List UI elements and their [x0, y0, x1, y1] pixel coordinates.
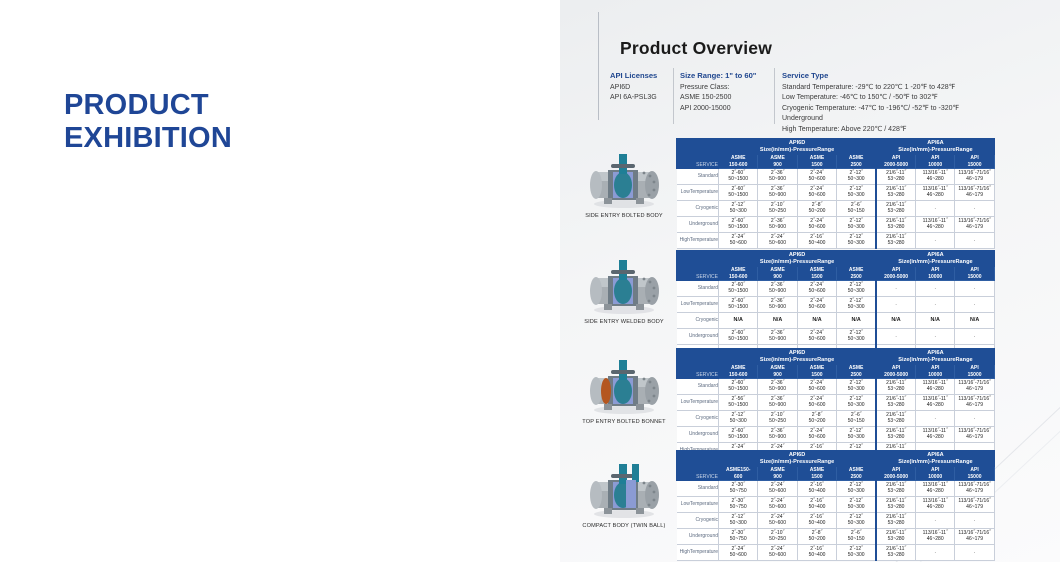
cell-size-pressure: 2˝-24˝50~600: [797, 281, 836, 297]
cell-size-pressure: 2˝-60˝50~1500: [719, 217, 758, 233]
cell-na: N/A: [916, 313, 955, 329]
spec-service-type: Service Type Standard Temperature: -29℃ …: [782, 70, 1032, 136]
spec-line: Pressure Class:: [680, 83, 772, 94]
service-column-header: SERVICE: [677, 349, 719, 379]
spec-heading: Size Range: 1" to 60": [680, 70, 772, 82]
cell-na: N/A: [955, 313, 994, 329]
cell-size-pressure: 2˝-8˝50~200: [797, 411, 836, 427]
table-row: Standard2˝-30˝50~7502˝-24˝50~6002˝-16˝50…: [677, 481, 995, 497]
cell-size-pressure: 2˝-8˝50~200: [797, 201, 836, 217]
slide-root: PRODUCT EXHIBITION Product Overview API …: [0, 0, 1060, 562]
cell-empty: ·: [916, 411, 955, 427]
product-figure: TOP ENTRY BOLTED BONNET: [570, 358, 678, 425]
col-header-asme: ASME900: [758, 467, 797, 481]
valve-cutaway-image: [582, 152, 666, 210]
group-header-api6a: API6ASize(in/mm)-PressureRange: [876, 451, 994, 467]
table-row: LowTemperature2˝-56˝50~15002˝-36˝50~9002…: [677, 395, 995, 411]
cell-size-pressure: 2˝-24˝50~600: [719, 545, 758, 561]
table-row: LowTemperature2˝-60˝50~15002˝-36˝50~9002…: [677, 297, 995, 313]
cell-size-pressure: 2˝-12˝50~300: [837, 513, 876, 529]
cell-size-pressure: 2˝-12˝50~300: [837, 233, 876, 249]
cell-size-pressure: 2˝-30˝50~750: [719, 481, 758, 497]
row-label: Cryogenic: [677, 513, 719, 529]
cell-size-pressure: 113/16˝-71/16˝46~179: [955, 481, 994, 497]
cell-size-pressure: 2˝-12˝50~300: [719, 513, 758, 529]
group-header-api6d: API6DSize(in/mm)-PressureRange: [719, 451, 877, 467]
col-header-asme: ASME2500: [837, 267, 876, 281]
cell-size-pressure: 2˝-24˝50~600: [797, 169, 836, 185]
white-diagonal-divider: [0, 0, 560, 562]
col-header-api: API10000: [916, 467, 955, 481]
col-header-api: API2000-5000: [876, 155, 915, 169]
cell-size-pressure: 2˝-10˝50~250: [758, 201, 797, 217]
cell-empty: ·: [955, 411, 994, 427]
cell-size-pressure: 2˝-30˝50~750: [719, 529, 758, 545]
table-row: CryogenicN/AN/AN/AN/AN/AN/AN/A: [677, 313, 995, 329]
service-column-header: SERVICE: [677, 139, 719, 169]
cell-size-pressure: 2˝-36˝50~900: [758, 217, 797, 233]
header-divider: [598, 12, 599, 120]
cell-size-pressure: 2˝-12˝50~300: [837, 329, 876, 345]
table-row: Cryogenic2˝-12˝50~3002˝-10˝50~2502˝-8˝50…: [677, 411, 995, 427]
cell-size-pressure: 2˝-36˝50~900: [758, 379, 797, 395]
cell-size-pressure: 2˝-60˝50~1500: [719, 297, 758, 313]
col-header-asme: ASME900: [758, 267, 797, 281]
cell-size-pressure: 113/16˝-11˝46~280: [916, 169, 955, 185]
cell-size-pressure: 2˝-6˝50~150: [837, 529, 876, 545]
spec-line: API6D: [610, 83, 678, 94]
cell-empty: ·: [876, 297, 915, 313]
row-label: LowTemperature: [677, 395, 719, 411]
col-header-asme: ASME2500: [837, 365, 876, 379]
table-row: HighTemperature2˝-24˝50~6002˝-24˝50~6002…: [677, 545, 995, 561]
cell-size-pressure: 113/16˝-11˝46~280: [916, 529, 955, 545]
row-label: HighTemperature: [677, 233, 719, 249]
cell-size-pressure: 113/16˝-71/16˝46~179: [955, 217, 994, 233]
cell-na: N/A: [837, 313, 876, 329]
cell-size-pressure: 113/16˝-11˝46~280: [916, 427, 955, 443]
cell-size-pressure: 2˝-12˝50~300: [837, 481, 876, 497]
cell-size-pressure: 2˝-12˝50~300: [837, 379, 876, 395]
cell-size-pressure: 2˝-12˝50~300: [837, 297, 876, 313]
cell-size-pressure: 2˝-8˝50~200: [797, 529, 836, 545]
cell-size-pressure: 113/16˝-11˝46~280: [916, 185, 955, 201]
col-header-api: API15000: [955, 155, 994, 169]
cell-size-pressure: 113/16˝-11˝46~280: [916, 379, 955, 395]
cell-size-pressure: 21/6˝-11˝53~280: [876, 545, 915, 561]
table-row: Cryogenic2˝-12˝50~3002˝-24˝50~6002˝-16˝5…: [677, 513, 995, 529]
cell-size-pressure: 21/6˝-11˝53~280: [876, 411, 915, 427]
row-label: LowTemperature: [677, 297, 719, 313]
cell-size-pressure: 2˝-24˝50~600: [719, 233, 758, 249]
cell-size-pressure: 2˝-12˝50~300: [837, 545, 876, 561]
cell-size-pressure: 2˝-36˝50~900: [758, 329, 797, 345]
table-row: LowTemperature2˝-60˝50~15002˝-36˝50~9002…: [677, 185, 995, 201]
col-header-asme: ASME1500: [797, 155, 836, 169]
col-header-asme: ASME900: [758, 365, 797, 379]
spec-line: API 2000-15000: [680, 104, 772, 115]
col-header-api: API2000-5000: [876, 467, 915, 481]
spec-line: Low Temperature: -46℃ to 150℃ / -50℉ to …: [782, 93, 1032, 104]
col-header-api: API10000: [916, 267, 955, 281]
spec-api-licenses: API Licenses API6D API 6A-PSL3G: [610, 70, 678, 104]
row-label: HighTemperature: [677, 545, 719, 561]
col-header-api: API10000: [916, 155, 955, 169]
cell-size-pressure: 2˝-6˝50~150: [837, 411, 876, 427]
cell-size-pressure: 21/6˝-11˝53~280: [876, 217, 915, 233]
cell-size-pressure: 2˝-24˝50~600: [758, 497, 797, 513]
row-label: Underground: [677, 329, 719, 345]
cell-size-pressure: 21/6˝-11˝53~280: [876, 513, 915, 529]
cell-size-pressure: 2˝-24˝50~600: [758, 545, 797, 561]
product-figure: COMPACT BODY (TWIN BALL): [570, 462, 678, 529]
cell-size-pressure: 2˝-16˝50~400: [797, 233, 836, 249]
valve-cutaway-image: [582, 258, 666, 316]
table-row: Standard2˝-60˝50~15002˝-36˝50~9002˝-24˝5…: [677, 281, 995, 297]
cell-size-pressure: 113/16˝-71/16˝46~179: [955, 529, 994, 545]
cell-size-pressure: 113/16˝-71/16˝46~179: [955, 379, 994, 395]
spec-table: SERVICEAPI6DSize(in/mm)-PressureRangeAPI…: [676, 250, 995, 361]
cell-size-pressure: 113/16˝-71/16˝46~179: [955, 427, 994, 443]
row-label: Standard: [677, 379, 719, 395]
cell-size-pressure: 21/6˝-11˝53~280: [876, 481, 915, 497]
cell-size-pressure: 113/16˝-71/16˝46~179: [955, 169, 994, 185]
row-label: Underground: [677, 529, 719, 545]
cell-size-pressure: 113/16˝-11˝46~280: [916, 217, 955, 233]
cell-size-pressure: 2˝-56˝50~1500: [719, 395, 758, 411]
cell-empty: ·: [955, 513, 994, 529]
group-header-api6a: API6ASize(in/mm)-PressureRange: [876, 251, 994, 267]
cell-size-pressure: 2˝-60˝50~1500: [719, 379, 758, 395]
col-header-api: API10000: [916, 365, 955, 379]
cell-empty: ·: [955, 297, 994, 313]
photo-collage-panel: PRODUCT EXHIBITION: [0, 0, 560, 562]
cell-na: N/A: [758, 313, 797, 329]
cell-empty: ·: [916, 513, 955, 529]
page-title-line-2: EXHIBITION: [64, 122, 232, 155]
cell-size-pressure: 2˝-24˝50~600: [758, 513, 797, 529]
cell-size-pressure: 113/16˝-71/16˝46~179: [955, 497, 994, 513]
spec-line: ASME 150-2500: [680, 93, 772, 104]
cell-size-pressure: 21/6˝-11˝53~280: [876, 185, 915, 201]
cell-size-pressure: 2˝-24˝50~600: [797, 297, 836, 313]
valve-cutaway-image: [582, 462, 666, 520]
cell-empty: ·: [916, 545, 955, 561]
group-header-api6d: API6DSize(in/mm)-PressureRange: [719, 349, 877, 365]
spec-heading: API Licenses: [610, 70, 678, 82]
cell-size-pressure: 2˝-36˝50~900: [758, 427, 797, 443]
cell-size-pressure: 2˝-12˝50~300: [837, 185, 876, 201]
cell-size-pressure: 2˝-12˝50~300: [837, 427, 876, 443]
cell-size-pressure: 113/16˝-11˝46~280: [916, 481, 955, 497]
spec-table: SERVICEAPI6DSize(in/mm)-PressureRangeAPI…: [676, 138, 995, 249]
product-overview-panel: Product Overview API Licenses API6D API …: [560, 0, 1060, 562]
cell-empty: ·: [916, 233, 955, 249]
spec-line: API 6A-PSL3G: [610, 93, 678, 104]
cell-size-pressure: 21/6˝-11˝53~280: [876, 169, 915, 185]
col-header-asme: ASME1500: [797, 467, 836, 481]
product-figure: SIDE ENTRY BOLTED BODY: [570, 152, 678, 219]
cell-empty: ·: [916, 281, 955, 297]
cell-empty: ·: [955, 281, 994, 297]
cell-size-pressure: 2˝-16˝50~400: [797, 497, 836, 513]
spec-table: SERVICEAPI6DSize(in/mm)-PressureRangeAPI…: [676, 348, 995, 459]
page-title: PRODUCT EXHIBITION: [64, 89, 232, 155]
cell-empty: ·: [876, 281, 915, 297]
cell-size-pressure: 2˝-16˝50~400: [797, 513, 836, 529]
spec-divider-2: [774, 68, 775, 124]
cell-size-pressure: 2˝-36˝50~900: [758, 281, 797, 297]
cell-empty: ·: [955, 545, 994, 561]
cell-size-pressure: 2˝-24˝50~600: [758, 481, 797, 497]
cell-size-pressure: 2˝-30˝50~750: [719, 497, 758, 513]
cell-size-pressure: 2˝-16˝50~400: [797, 545, 836, 561]
row-label: Standard: [677, 169, 719, 185]
row-label: Cryogenic: [677, 201, 719, 217]
cell-size-pressure: 113/16˝-71/16˝46~179: [955, 395, 994, 411]
service-column-header: SERVICE: [677, 251, 719, 281]
table-row: Underground2˝-60˝50~15002˝-36˝50~9002˝-2…: [677, 217, 995, 233]
cell-size-pressure: 2˝-60˝50~1500: [719, 427, 758, 443]
col-header-asme: ASME1500: [797, 365, 836, 379]
col-header-asme: ASME2500: [837, 155, 876, 169]
cell-size-pressure: 113/16˝-11˝46~280: [916, 497, 955, 513]
product-figure: SIDE ENTRY WELDED BODY: [570, 258, 678, 325]
group-header-api6d: API6DSize(in/mm)-PressureRange: [719, 139, 877, 155]
row-label: Cryogenic: [677, 313, 719, 329]
cell-size-pressure: 2˝-36˝50~900: [758, 395, 797, 411]
cell-size-pressure: 2˝-24˝50~600: [797, 185, 836, 201]
cell-size-pressure: 2˝-36˝50~900: [758, 185, 797, 201]
col-header-api: API2000-5000: [876, 267, 915, 281]
table-row: Standard2˝-60˝50~15002˝-36˝50~9002˝-24˝5…: [677, 169, 995, 185]
group-header-api6a: API6ASize(in/mm)-PressureRange: [876, 349, 994, 365]
cell-size-pressure: 2˝-12˝50~300: [837, 497, 876, 513]
cell-size-pressure: 2˝-60˝50~1500: [719, 329, 758, 345]
cell-size-pressure: 2˝-60˝50~1500: [719, 281, 758, 297]
cell-size-pressure: 2˝-60˝50~1500: [719, 185, 758, 201]
cell-size-pressure: 113/16˝-71/16˝46~179: [955, 185, 994, 201]
col-header-api: API15000: [955, 467, 994, 481]
col-header-asme: ASME2500: [837, 467, 876, 481]
col-header-api: API15000: [955, 267, 994, 281]
cell-size-pressure: 113/16˝-11˝46~280: [916, 395, 955, 411]
product-caption: SIDE ENTRY WELDED BODY: [570, 319, 678, 325]
cell-size-pressure: 2˝-12˝50~300: [837, 281, 876, 297]
cell-size-pressure: 2˝-36˝50~900: [758, 297, 797, 313]
row-label: Underground: [677, 217, 719, 233]
row-label: LowTemperature: [677, 185, 719, 201]
cell-size-pressure: 21/6˝-11˝53~280: [876, 427, 915, 443]
cell-size-pressure: 2˝-12˝50~300: [837, 217, 876, 233]
cell-size-pressure: 2˝-10˝50~250: [758, 529, 797, 545]
table-row: LowTemperature2˝-30˝50~7502˝-24˝50~6002˝…: [677, 497, 995, 513]
table-row: Underground2˝-60˝50~15002˝-36˝50~9002˝-2…: [677, 427, 995, 443]
cell-size-pressure: 2˝-12˝50~300: [719, 201, 758, 217]
table-row: Cryogenic2˝-12˝50~3002˝-10˝50~2502˝-8˝50…: [677, 201, 995, 217]
spec-line: High Temperature: Above 220℃ / 428℉: [782, 125, 1032, 136]
group-header-api6d: API6DSize(in/mm)-PressureRange: [719, 251, 877, 267]
col-header-api: API15000: [955, 365, 994, 379]
row-label: Standard: [677, 281, 719, 297]
cell-size-pressure: 21/6˝-11˝53~280: [876, 497, 915, 513]
col-header-asme: ASME150-600: [719, 267, 758, 281]
cell-empty: ·: [876, 329, 915, 345]
cell-size-pressure: 2˝-12˝50~300: [837, 395, 876, 411]
cell-size-pressure: 2˝-24˝50~600: [797, 329, 836, 345]
cell-size-pressure: 21/6˝-11˝53~280: [876, 529, 915, 545]
cell-empty: ·: [916, 201, 955, 217]
cell-size-pressure: 2˝-36˝50~900: [758, 169, 797, 185]
spec-line: Standard Temperature: -29℃ to 220℃ 1 -20…: [782, 83, 1032, 94]
product-caption: TOP ENTRY BOLTED BONNET: [570, 419, 678, 425]
cell-size-pressure: 21/6˝-11˝53~280: [876, 233, 915, 249]
cell-size-pressure: 2˝-10˝50~250: [758, 411, 797, 427]
cell-empty: ·: [955, 233, 994, 249]
cell-size-pressure: 2˝-24˝50~600: [797, 395, 836, 411]
cell-size-pressure: 21/6˝-11˝53~280: [876, 379, 915, 395]
col-header-asme: ASME150-600: [719, 365, 758, 379]
cell-empty: ·: [955, 329, 994, 345]
cell-empty: ·: [916, 329, 955, 345]
page-title-line-1: PRODUCT: [64, 89, 232, 122]
cell-size-pressure: 2˝-12˝50~300: [837, 169, 876, 185]
cell-empty: ·: [955, 201, 994, 217]
cell-size-pressure: 2˝-12˝50~300: [719, 411, 758, 427]
row-label: Underground: [677, 427, 719, 443]
spec-size-range: Size Range: 1" to 60" Pressure Class: AS…: [680, 70, 772, 114]
valve-cutaway-image: [582, 358, 666, 416]
service-column-header: SERVICE: [677, 451, 719, 481]
cell-na: N/A: [719, 313, 758, 329]
col-header-asme: ASME900: [758, 155, 797, 169]
spec-line: Underground: [782, 114, 1032, 125]
table-row: HighTemperature2˝-24˝50~6002˝-24˝50~6002…: [677, 233, 995, 249]
col-header-asme: ASME150-600: [719, 467, 758, 481]
cell-size-pressure: 21/6˝-11˝53~280: [876, 201, 915, 217]
cell-size-pressure: 2˝-16˝50~400: [797, 481, 836, 497]
cell-na: N/A: [876, 313, 915, 329]
table-row: Underground2˝-30˝50~7502˝-10˝50~2502˝-8˝…: [677, 529, 995, 545]
cell-empty: ·: [916, 297, 955, 313]
col-header-asme: ASME1500: [797, 267, 836, 281]
cell-size-pressure: 2˝-6˝50~150: [837, 201, 876, 217]
row-label: Cryogenic: [677, 411, 719, 427]
col-header-api: API2000-5000: [876, 365, 915, 379]
cell-size-pressure: 2˝-60˝50~1500: [719, 169, 758, 185]
table-row: Standard2˝-60˝50~15002˝-36˝50~9002˝-24˝5…: [677, 379, 995, 395]
group-header-api6a: API6ASize(in/mm)-PressureRange: [876, 139, 994, 155]
overview-heading: Product Overview: [620, 38, 772, 59]
product-caption: COMPACT BODY (TWIN BALL): [570, 523, 678, 529]
spec-line: Cryogenic Temperature: -47℃ to -196℃/ -5…: [782, 104, 1032, 115]
cell-size-pressure: 2˝-24˝50~600: [797, 427, 836, 443]
cell-size-pressure: 2˝-24˝50~600: [797, 217, 836, 233]
cell-size-pressure: 21/6˝-11˝53~280: [876, 395, 915, 411]
cell-na: N/A: [797, 313, 836, 329]
spec-heading: Service Type: [782, 70, 1032, 82]
spec-table: SERVICEAPI6DSize(in/mm)-PressureRangeAPI…: [676, 450, 995, 561]
row-label: Standard: [677, 481, 719, 497]
cell-size-pressure: 2˝-24˝50~600: [758, 233, 797, 249]
product-caption: SIDE ENTRY BOLTED BODY: [570, 213, 678, 219]
row-label: LowTemperature: [677, 497, 719, 513]
table-row: Underground2˝-60˝50~15002˝-36˝50~9002˝-2…: [677, 329, 995, 345]
cell-size-pressure: 2˝-24˝50~600: [797, 379, 836, 395]
col-header-asme: ASME150-600: [719, 155, 758, 169]
